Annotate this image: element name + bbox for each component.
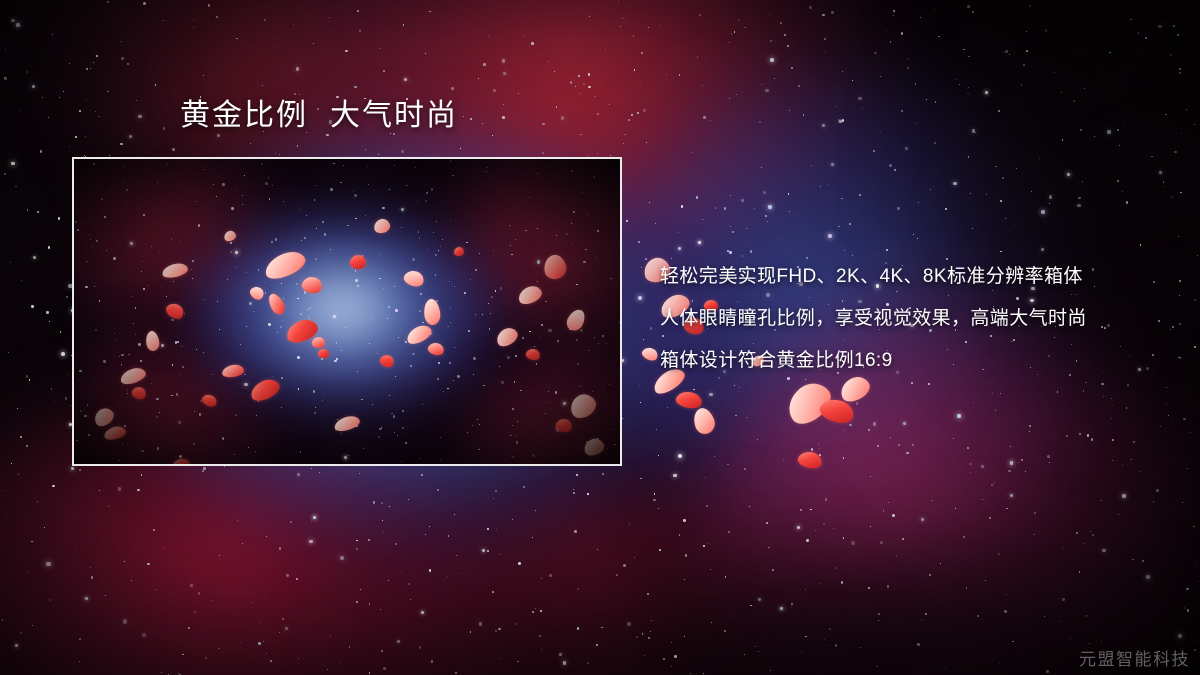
- framed-image: [72, 157, 622, 466]
- watermark-label: 元盟智能科技: [1079, 645, 1190, 670]
- body-line-1: 轻松完美实现FHD、2K、4K、8K标准分辨率箱体: [660, 256, 1160, 298]
- body-line-3: 箱体设计符合黄金比例16:9: [660, 340, 1160, 382]
- body-text-block: 轻松完美实现FHD、2K、4K、8K标准分辨率箱体 人体眼睛瞳孔比例，享受视觉效…: [660, 256, 1160, 382]
- title-part-two: 大气时尚: [330, 99, 458, 132]
- body-line-2: 人体眼睛瞳孔比例，享受视觉效果，高端大气时尚: [660, 298, 1160, 340]
- presentation-slide: 黄金比例大气时尚 轻松完美实现FHD、2K、4K、8K标准分辨率箱体 人体眼睛瞳…: [0, 0, 1200, 675]
- framed-image-content: [74, 159, 620, 464]
- inner-vignette: [74, 159, 620, 464]
- title-part-one: 黄金比例: [180, 99, 308, 132]
- page-title: 黄金比例大气时尚: [180, 101, 458, 131]
